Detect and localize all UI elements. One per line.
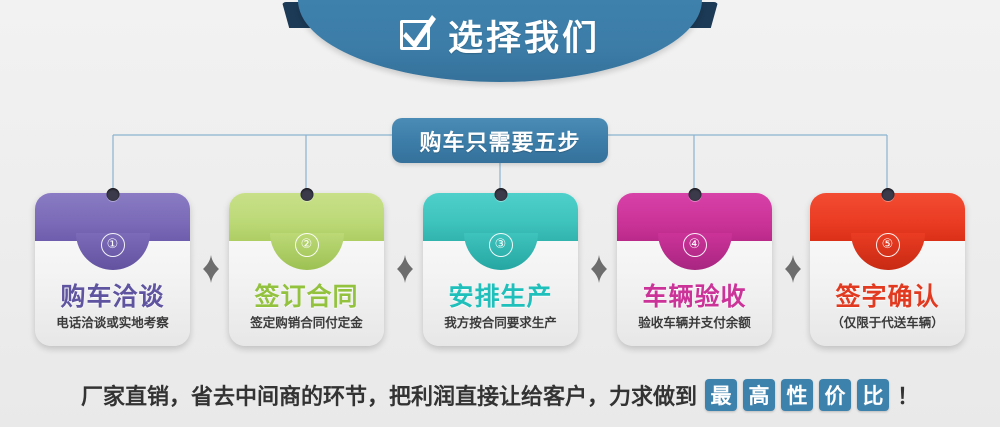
step-card-4-subtitle: 验收车辆并支付余额 bbox=[617, 312, 772, 331]
step-card-4-number: ④ bbox=[683, 233, 707, 257]
footer-text-before: 厂家直销，省去中间商的环节，把利润直接让给客户，力求做到 bbox=[81, 379, 697, 411]
banner-title: 选择我们 bbox=[448, 10, 600, 61]
steps-pill-text: 购车只需要五步 bbox=[419, 125, 580, 157]
step-card-3-number: ③ bbox=[489, 233, 513, 257]
step-card-3-title: 安排生产 bbox=[423, 277, 578, 313]
step-card-2-title: 签订合同 bbox=[229, 277, 384, 313]
footer-text-after: ！ bbox=[897, 379, 919, 411]
arrow-2-icon bbox=[397, 255, 413, 283]
header-banner: 选择我们 bbox=[282, 0, 718, 84]
step-card-2[interactable]: ② 签订合同 签定购销合同付定金 bbox=[229, 193, 384, 346]
arrow-3-icon bbox=[591, 255, 607, 283]
steps-row: ① 购车洽谈 电话洽谈或实地考察 ② 签订合同 签定购销合同付定金 ③ 安排生产… bbox=[0, 193, 1000, 348]
promo-infographic: 选择我们 购车只需要五步 ① 购车洽谈 电话洽谈或实地考察 ② 签订合同 签定购… bbox=[0, 0, 1000, 427]
step-card-3-punch-hole bbox=[494, 188, 507, 201]
arrow-1-icon bbox=[203, 255, 219, 283]
step-card-2-number: ② bbox=[295, 233, 319, 257]
step-card-5-number: ⑤ bbox=[876, 233, 900, 257]
footer-highlight-char-5: 比 bbox=[857, 379, 889, 411]
arrow-4-icon bbox=[785, 255, 801, 283]
footer-slogan: 厂家直销，省去中间商的环节，把利润直接让给客户，力求做到 最 高 性 价 比 ！ bbox=[0, 373, 1000, 417]
footer-highlight-char-4: 价 bbox=[819, 379, 851, 411]
step-card-2-punch-hole bbox=[300, 188, 313, 201]
step-card-1-punch-hole bbox=[106, 188, 119, 201]
step-card-1-subtitle: 电话洽谈或实地考察 bbox=[35, 312, 190, 331]
steps-pill-label: 购车只需要五步 bbox=[392, 118, 608, 163]
step-card-4-title: 车辆验收 bbox=[617, 277, 772, 313]
footer-highlight-group: 最 高 性 价 比 bbox=[705, 379, 889, 411]
step-card-5[interactable]: ⑤ 签字确认 （仅限于代送车辆） bbox=[810, 193, 965, 346]
step-card-1-title: 购车洽谈 bbox=[35, 277, 190, 313]
step-card-2-subtitle: 签定购销合同付定金 bbox=[229, 312, 384, 331]
step-card-5-subtitle: （仅限于代送车辆） bbox=[810, 312, 965, 331]
banner-body: 选择我们 bbox=[298, 0, 702, 82]
step-card-4[interactable]: ④ 车辆验收 验收车辆并支付余额 bbox=[617, 193, 772, 346]
step-card-1-number: ① bbox=[101, 233, 125, 257]
footer-highlight-char-1: 最 bbox=[705, 379, 737, 411]
footer-highlight-char-2: 高 bbox=[743, 379, 775, 411]
step-card-5-punch-hole bbox=[881, 188, 894, 201]
step-card-4-punch-hole bbox=[688, 188, 701, 201]
step-card-5-title: 签字确认 bbox=[810, 277, 965, 313]
step-card-3[interactable]: ③ 安排生产 我方按合同要求生产 bbox=[423, 193, 578, 346]
step-card-1[interactable]: ① 购车洽谈 电话洽谈或实地考察 bbox=[35, 193, 190, 346]
checkbox-check-icon bbox=[400, 17, 434, 51]
footer-highlight-char-3: 性 bbox=[781, 379, 813, 411]
step-card-3-subtitle: 我方按合同要求生产 bbox=[423, 312, 578, 331]
